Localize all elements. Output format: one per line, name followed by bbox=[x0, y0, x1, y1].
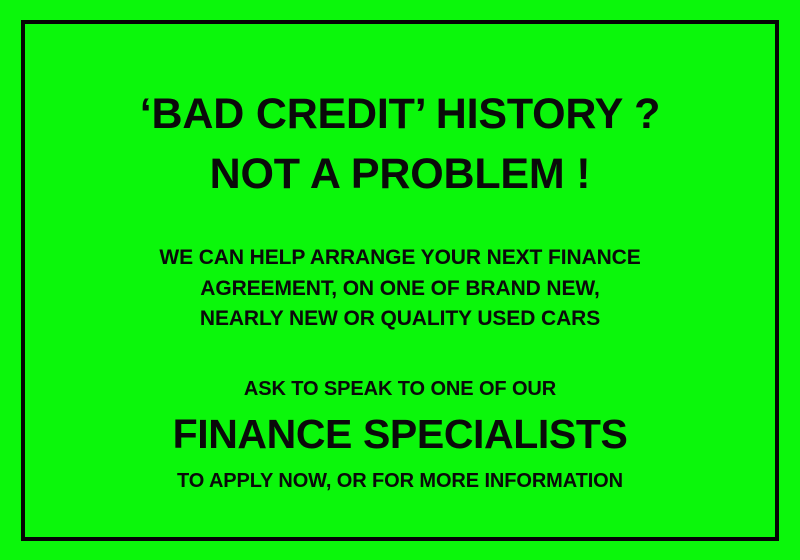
poster-content: ‘BAD CREDIT’ HISTORY ? NOT A PROBLEM ! W… bbox=[25, 24, 775, 537]
body-copy-line-2: AGREEMENT, ON ONE OF BRAND NEW, bbox=[25, 274, 775, 305]
advertisement-poster: ‘BAD CREDIT’ HISTORY ? NOT A PROBLEM ! W… bbox=[0, 0, 800, 560]
body-copy-line-1: WE CAN HELP ARRANGE YOUR NEXT FINANCE bbox=[25, 243, 775, 274]
call-to-action-block: ASK TO SPEAK TO ONE OF OUR FINANCE SPECI… bbox=[25, 375, 775, 495]
headline-block: ‘BAD CREDIT’ HISTORY ? NOT A PROBLEM ! bbox=[25, 88, 775, 201]
body-copy-line-3: NEARLY NEW OR QUALITY USED CARS bbox=[25, 304, 775, 335]
cta-tail-text: TO APPLY NOW, OR FOR MORE INFORMATION bbox=[25, 467, 775, 495]
cta-main-heading: FINANCE SPECIALISTS bbox=[25, 410, 775, 459]
body-copy-block: WE CAN HELP ARRANGE YOUR NEXT FINANCE AG… bbox=[25, 243, 775, 335]
headline-line-2: NOT A PROBLEM ! bbox=[25, 148, 775, 200]
cta-lead-text: ASK TO SPEAK TO ONE OF OUR bbox=[25, 375, 775, 403]
headline-line-1: ‘BAD CREDIT’ HISTORY ? bbox=[25, 88, 775, 140]
